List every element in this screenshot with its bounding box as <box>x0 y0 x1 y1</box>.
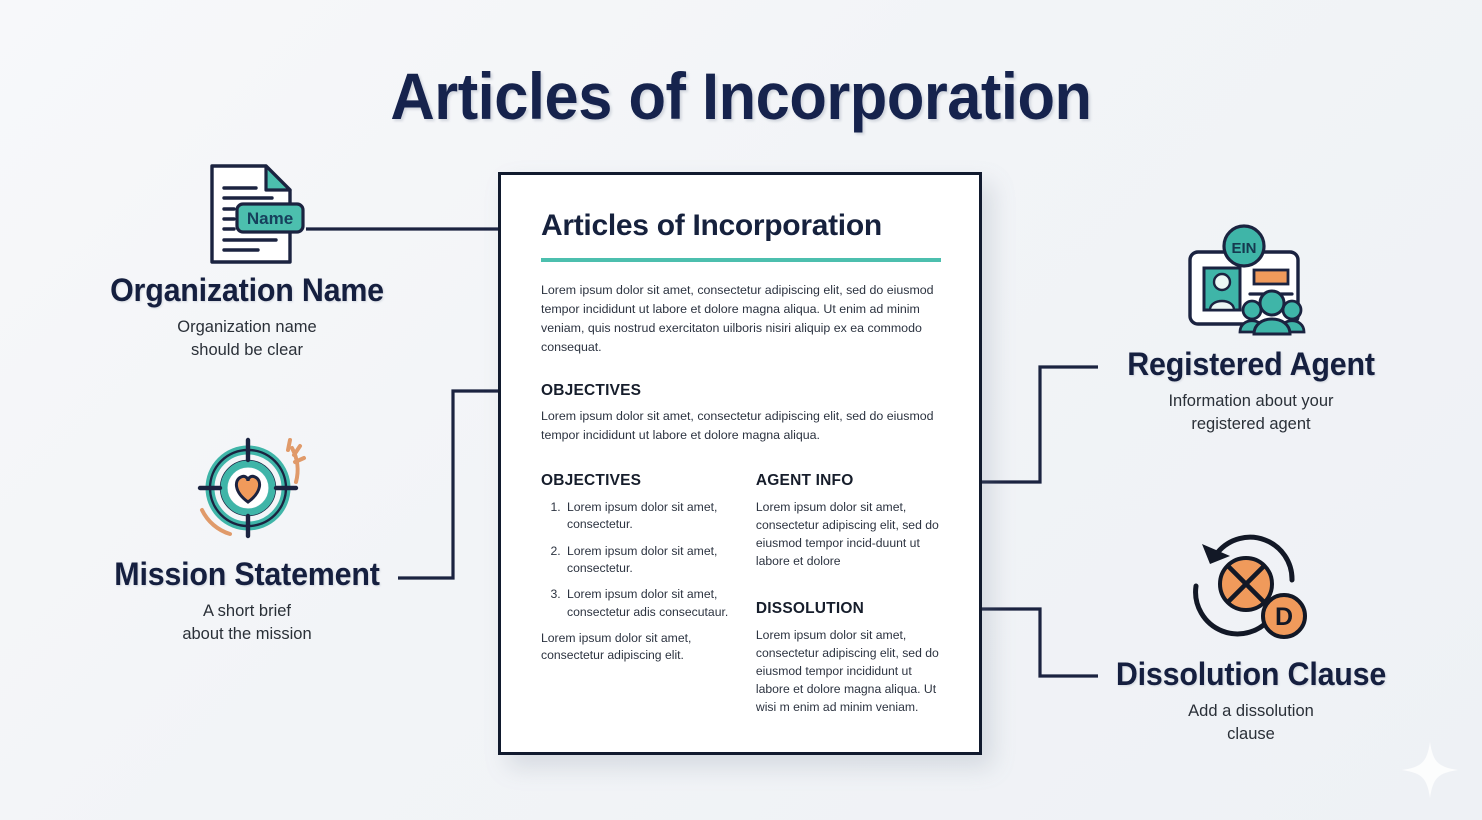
sparkle-icon <box>1398 738 1462 802</box>
dissolution-cycle-icon: D <box>1182 530 1314 653</box>
dissolution-heading: DISSOLUTION <box>756 600 941 618</box>
agent-info-heading: AGENT INFO <box>756 472 941 490</box>
callout-mission-statement: Mission Statement A short briefabout the… <box>64 556 430 647</box>
document-card-divider <box>541 258 941 262</box>
callout-title: Dissolution Clause <box>1070 656 1433 693</box>
objectives-list-heading: OBJECTIVES <box>541 472 730 490</box>
dissolution-paragraph: Lorem ipsum dolor sit amet, consectetur … <box>756 626 941 716</box>
objectives-list: Lorem ipsum dolor sit amet, consectetur.… <box>541 499 730 621</box>
document-card-content: Articles of Incorporation Lorem ipsum do… <box>501 175 979 716</box>
callout-subtitle: A short briefabout the mission <box>64 600 430 647</box>
callout-title: Registered Agent <box>1070 346 1433 383</box>
callout-subtitle: Add a dissolutionclause <box>1060 700 1442 747</box>
ein-badge-label: EIN <box>1231 240 1256 257</box>
list-item: Lorem ipsum dolor sit amet, consectetur … <box>564 586 730 621</box>
target-heart-icon <box>188 432 310 553</box>
document-card-title: Articles of Incorporation <box>541 209 941 242</box>
document-name-icon: Name <box>196 160 308 273</box>
callout-subtitle: Organization nameshould be clear <box>64 316 430 363</box>
callout-dissolution-clause: Dissolution Clause Add a dissolutionclau… <box>1060 656 1442 747</box>
document-card: Articles of Incorporation Lorem ipsum do… <box>498 172 982 755</box>
document-name-badge-label: Name <box>247 209 293 228</box>
agent-dissolution-column: AGENT INFO Lorem ipsum dolor sit amet, c… <box>756 472 941 716</box>
callout-title: Mission Statement <box>73 556 421 593</box>
callout-title: Organization Name <box>73 272 421 309</box>
infographic-canvas: Articles of Incorporation Articles of In… <box>0 0 1482 820</box>
document-two-column-area: OBJECTIVES Lorem ipsum dolor sit amet, c… <box>541 472 941 716</box>
objectives-paragraph: Lorem ipsum dolor sit amet, consectetur … <box>541 407 941 445</box>
list-item: Lorem ipsum dolor sit amet, consectetur. <box>564 499 730 534</box>
objectives-column: OBJECTIVES Lorem ipsum dolor sit amet, c… <box>541 472 730 716</box>
callout-registered-agent: Registered Agent Information about yourr… <box>1060 346 1442 437</box>
agent-info-paragraph: Lorem ipsum dolor sit amet, consectetur … <box>756 498 941 570</box>
document-intro-paragraph: Lorem ipsum dolor sit amet, consectetur … <box>541 281 941 356</box>
id-card-people-icon: EIN <box>1178 222 1316 347</box>
callout-subtitle: Information about yourregistered agent <box>1060 390 1442 437</box>
objectives-heading: OBJECTIVES <box>541 382 941 400</box>
objectives-closing-paragraph: Lorem ipsum dolor sit amet, consectetur … <box>541 630 730 665</box>
callout-organization-name: Organization Name Organization nameshoul… <box>64 272 430 363</box>
dissolution-badge-label: D <box>1275 603 1293 631</box>
list-item: Lorem ipsum dolor sit amet, consectetur. <box>564 543 730 578</box>
